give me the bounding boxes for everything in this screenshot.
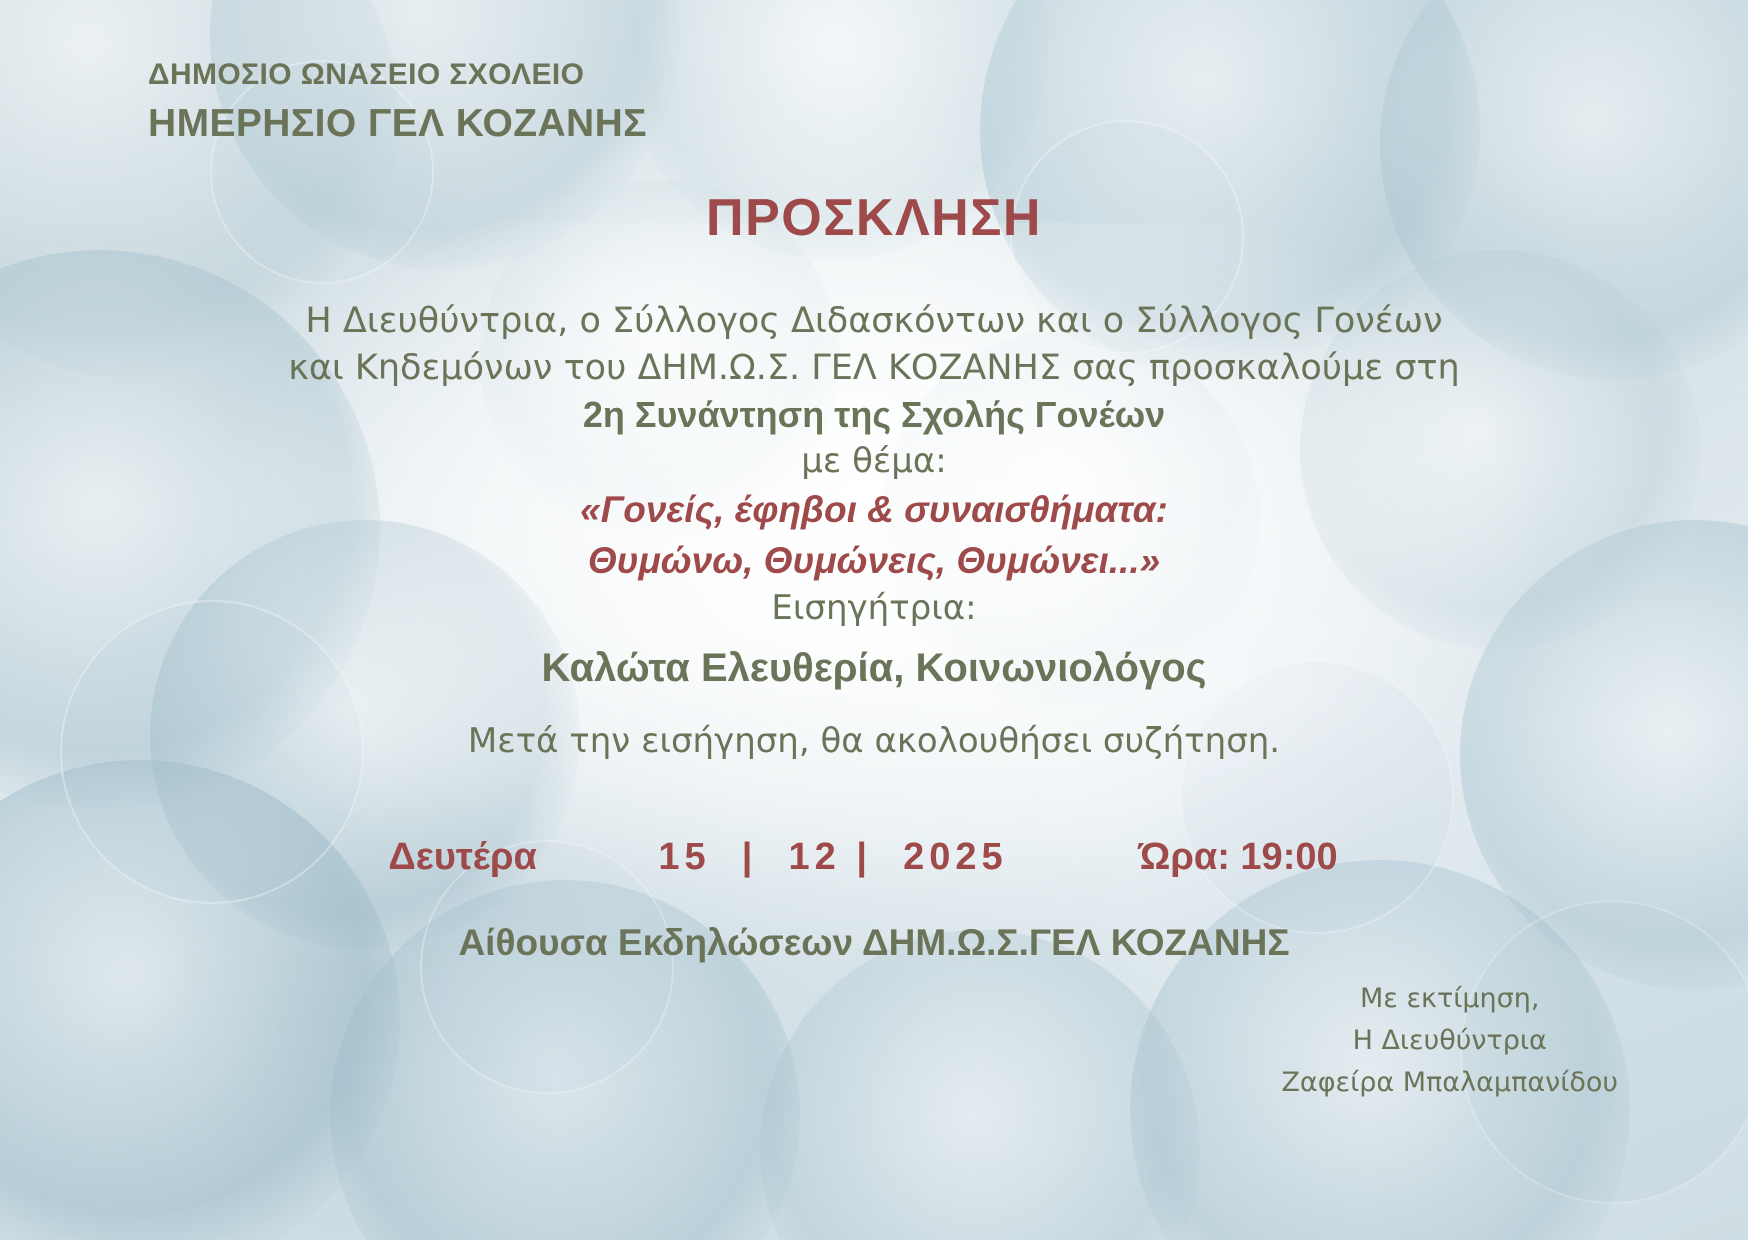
schedule-time: Ώρα: 19:00	[1008, 836, 1448, 879]
intro-line-2: και Κηδεμόνων του ΔΗΜ.Ω.Σ. ΓΕΛ ΚΟΖΑΝΗΣ σ…	[0, 345, 1748, 392]
speaker-name: Καλώτα Ελευθερία, Κοινωνιολόγος	[0, 642, 1748, 695]
school-name-line-1: ΔΗΜΟΣΙΟ ΩΝΑΣΕΙΟ ΣΧΟΛΕΙΟ	[148, 56, 647, 94]
topic-line-2: Θυμώνω, Θυμώνεις, Θυμώνει...»	[0, 535, 1748, 586]
page-title: ΠΡΟΣΚΛΗΣΗ	[0, 188, 1748, 248]
signature-closing: Με εκτίμηση,	[1281, 978, 1618, 1020]
invitation-flyer: ΔΗΜΟΣΙΟ ΩΝΑΣΕΙΟ ΣΧΟΛΕΙΟ ΗΜΕΡΗΣΙΟ ΓΕΛ ΚΟΖ…	[0, 0, 1748, 1240]
intro-line-1: Η Διευθύντρια, ο Σύλλογος Διδασκόντων κα…	[0, 298, 1748, 345]
signature-name: Ζαφείρα Μπαλαμπανίδου	[1281, 1062, 1618, 1104]
speaker-label: Εισηγήτρια:	[0, 586, 1748, 631]
discussion-note: Μετά την εισήγηση, θα ακολουθήσει συζήτη…	[0, 719, 1748, 764]
topic-line-1: «Γονείς, έφηβοι & συναισθήματα:	[0, 484, 1748, 535]
schedule-day: Δευτέρα	[300, 836, 658, 879]
signature-block: Με εκτίμηση, Η Διευθύντρια Ζαφείρα Μπαλα…	[1281, 978, 1618, 1104]
signature-role: Η Διευθύντρια	[1281, 1020, 1618, 1062]
invitation-body: Η Διευθύντρια, ο Σύλλογος Διδασκόντων κα…	[0, 298, 1748, 764]
schedule-date: 15 | 12 | 2025	[658, 836, 1007, 879]
school-name-line-2: ΗΜΕΡΗΣΙΟ ΓΕΛ ΚΟΖΑΝΗΣ	[148, 100, 647, 149]
flyer-content: ΔΗΜΟΣΙΟ ΩΝΑΣΕΙΟ ΣΧΟΛΕΙΟ ΗΜΕΡΗΣΙΟ ΓΕΛ ΚΟΖ…	[0, 0, 1748, 1240]
school-identity-block: ΔΗΜΟΣΙΟ ΩΝΑΣΕΙΟ ΣΧΟΛΕΙΟ ΗΜΕΡΗΣΙΟ ΓΕΛ ΚΟΖ…	[148, 56, 647, 148]
schedule-row: Δευτέρα 15 | 12 | 2025 Ώρα: 19:00	[0, 836, 1748, 879]
event-title: 2η Συνάντηση της Σχολής Γονέων	[0, 391, 1748, 439]
venue-line: Αίθουσα Εκδηλώσεων ΔΗΜ.Ω.Σ.ΓΕΛ ΚΟΖΑΝΗΣ	[0, 922, 1748, 964]
topic-label: με θέμα:	[0, 439, 1748, 484]
